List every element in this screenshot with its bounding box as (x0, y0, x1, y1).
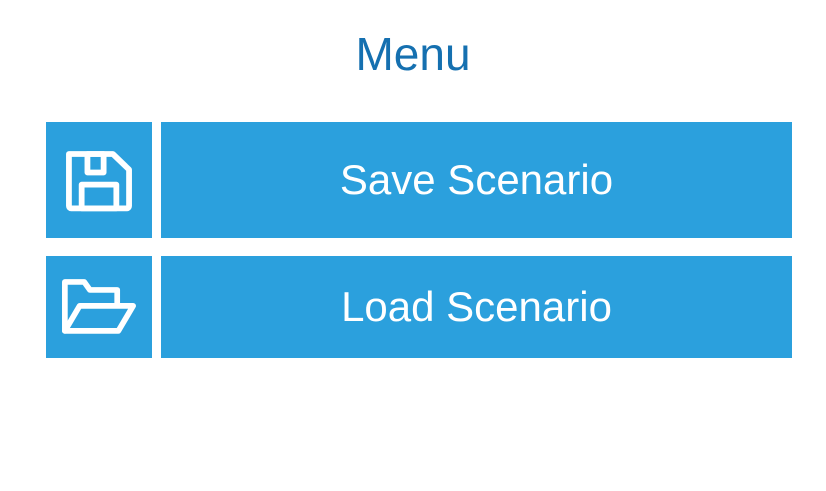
load-scenario-icon-button[interactable] (46, 256, 152, 358)
load-scenario-button[interactable]: Load Scenario (161, 256, 792, 358)
floppy-disk-icon (62, 143, 136, 217)
menu-screen: Menu Save Scenario (0, 0, 826, 491)
save-scenario-label: Save Scenario (340, 156, 613, 204)
row-divider-gap (152, 122, 161, 238)
menu-item-save-scenario[interactable]: Save Scenario (46, 122, 792, 238)
save-scenario-icon-button[interactable] (46, 122, 152, 238)
menu-item-load-scenario[interactable]: Load Scenario (46, 256, 792, 358)
save-scenario-button[interactable]: Save Scenario (161, 122, 792, 238)
load-scenario-label: Load Scenario (341, 283, 612, 331)
page-title: Menu (0, 26, 826, 82)
open-folder-icon (60, 274, 138, 340)
row-divider-gap (152, 256, 161, 358)
